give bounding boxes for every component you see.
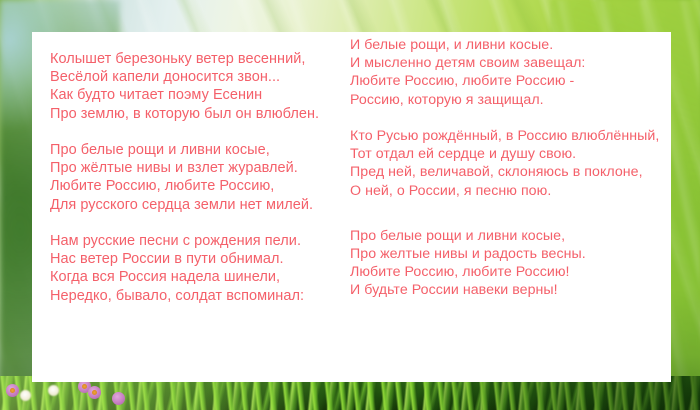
poem-line: Россию, которую я защищал. [350,91,690,109]
poem-line: Про белые рощи и ливни косые, [50,141,350,159]
poem-line: О ней, о России, я песню пою. [350,182,690,200]
poem-line: Весёлой капели доносится звон... [50,68,350,86]
stanza: Про белые рощи и ливни косые, Про желтые… [350,227,690,300]
poem-line: Когда вся Россия надела шинели, [50,268,350,286]
poem-line: И мысленно детям своим завещал: [350,54,690,72]
poem-line: Нас ветер России в пути обнимал. [50,250,350,268]
poem-left-column: Колышет березоньку ветер весенний, Весёл… [50,32,350,323]
poem-line: Про желтые нивы и радость весны. [350,245,690,263]
poem-line: Любите Россию, любите Россию! [350,263,690,281]
slide-canvas: Колышет березоньку ветер весенний, Весёл… [0,0,700,410]
poem-right-column: И белые рощи, и ливни косые. И мысленно … [350,25,690,318]
stanza: Кто Русью рождённый, в Россию влюблённый… [350,127,690,200]
stanza: Нам русские песни с рождения пели. Нас в… [50,232,350,305]
poem-line: Колышет березоньку ветер весенний, [50,50,350,68]
stanza: И белые рощи, и ливни косые. И мысленно … [350,36,690,109]
poem-line: Нередко, бывало, солдат вспоминал: [50,287,350,305]
poem-line: Пред ней, величавой, склоняюсь в поклоне… [350,163,690,181]
poem-line: Для русского сердца земли нет милей. [50,196,350,214]
poem-line: Тот отдал ей сердце и душу свою. [350,145,690,163]
poem-line: И белые рощи, и ливни косые. [350,36,690,54]
poem-line: Про землю, в которую был он влюблен. [50,105,350,123]
poem-line: Кто Русью рождённый, в Россию влюблённый… [350,127,690,145]
stanza: Колышет березоньку ветер весенний, Весёл… [50,50,350,123]
poem-columns: Колышет березоньку ветер весенний, Весёл… [0,0,700,410]
stanza: Про белые рощи и ливни косые, Про жёлтые… [50,141,350,214]
poem-line: Как будто читает поэму Есенин [50,86,350,104]
poem-line: Нам русские песни с рождения пели. [50,232,350,250]
poem-line: Про белые рощи и ливни косые, [350,227,690,245]
poem-line: Любите Россию, любите Россию, [50,177,350,195]
poem-line: И будьте России навеки верны! [350,281,690,299]
poem-line: Любите Россию, любите Россию - [350,72,690,90]
poem-line: Про жёлтые нивы и взлет журавлей. [50,159,350,177]
